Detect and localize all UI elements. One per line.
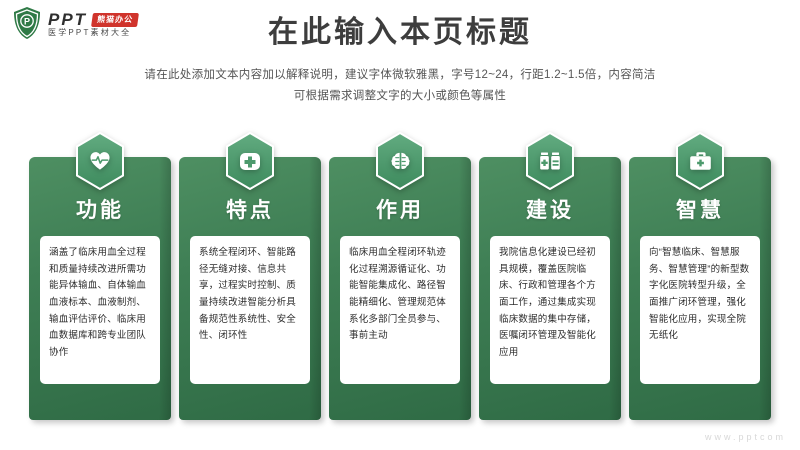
card-description: 临床用血全程闭环轨迹化过程溯源循证化、功能智能集成化、路径智能精细化、管理规范体… bbox=[340, 236, 460, 384]
card-description: 涵盖了临床用血全过程和质量持续改进所需功能异体输血、自体输血血液标本、血液制剂、… bbox=[40, 236, 160, 384]
subtitle-block: 请在此处添加文本内容加以解释说明，建议字体微软雅黑，字号12~24，行距1.2~… bbox=[0, 65, 800, 108]
brain-icon bbox=[374, 132, 426, 190]
cards-row: 功能 涵盖了临床用血全过程和质量持续改进所需功能异体输血、自体输血血液标本、血液… bbox=[0, 132, 800, 422]
card-description: 系统全程闭环、智能路径无缝对接、信息共享，过程实时控制、质量持续改进智能分析具备… bbox=[190, 236, 310, 384]
subtitle-line-1: 请在此处添加文本内容加以解释说明，建议字体微软雅黑，字号12~24，行距1.2~… bbox=[0, 65, 800, 86]
card-icon-badge bbox=[74, 132, 126, 190]
card-construction[interactable]: 建设 我院信息化建设已经初具规模，覆盖医院临床、行政和管理各个方面工作，通过集成… bbox=[479, 132, 621, 420]
medical-cross-icon bbox=[224, 132, 276, 190]
card-title: 智慧 bbox=[629, 194, 771, 224]
card-icon-badge bbox=[224, 132, 276, 190]
card-title: 特点 bbox=[179, 194, 321, 224]
slide-header: 在此输入本页标题 请在此处添加文本内容加以解释说明，建议字体微软雅黑，字号12~… bbox=[0, 14, 800, 107]
card-icon-badge bbox=[524, 132, 576, 190]
subtitle-line-2: 可根据需求调整文字的大小或颜色等属性 bbox=[0, 86, 800, 107]
footer-watermark: www.pptcom bbox=[705, 432, 786, 442]
page-title: 在此输入本页标题 bbox=[0, 14, 800, 52]
card-intelligence[interactable]: 智慧 向“智慧临床、智慧服务、智慧管理”的新型数字化医院转型升级，全面推广闭环管… bbox=[629, 132, 771, 420]
card-functions[interactable]: 功能 涵盖了临床用血全过程和质量持续改进所需功能异体输血、自体输血血液标本、血液… bbox=[29, 132, 171, 420]
card-title: 功能 bbox=[29, 194, 171, 224]
medicine-bottles-icon bbox=[524, 132, 576, 190]
heart-pulse-icon bbox=[74, 132, 126, 190]
card-description: 向“智慧临床、智慧服务、智慧管理”的新型数字化医院转型升级，全面推广闭环管理，强… bbox=[640, 236, 760, 384]
card-title: 建设 bbox=[479, 194, 621, 224]
card-icon-badge bbox=[374, 132, 426, 190]
medical-briefcase-icon bbox=[674, 132, 726, 190]
card-features[interactable]: 特点 系统全程闭环、智能路径无缝对接、信息共享，过程实时控制、质量持续改进智能分… bbox=[179, 132, 321, 420]
card-icon-badge bbox=[674, 132, 726, 190]
card-title: 作用 bbox=[329, 194, 471, 224]
card-effects[interactable]: 作用 临床用血全程闭环轨迹化过程溯源循证化、功能智能集成化、路径智能精细化、管理… bbox=[329, 132, 471, 420]
card-description: 我院信息化建设已经初具规模，覆盖医院临床、行政和管理各个方面工作，通过集成实现临… bbox=[490, 236, 610, 384]
